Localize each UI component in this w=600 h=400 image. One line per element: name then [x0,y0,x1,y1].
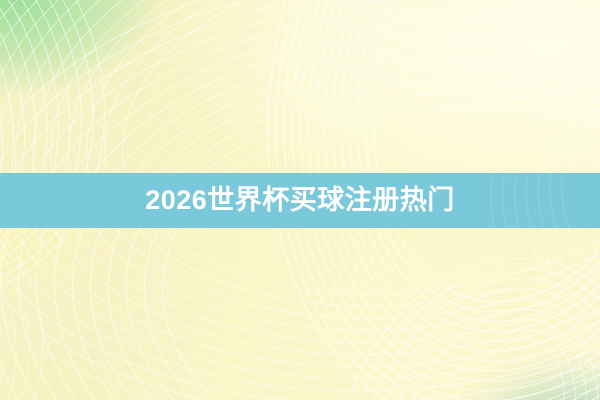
banner-image: 2026世界杯买球注册热门 [0,0,600,400]
page-title: 2026世界杯买球注册热门 [145,187,455,214]
band-arc-texture-icon [430,173,600,228]
background-bottom-right-sage-tint [384,320,600,400]
title-band: 2026世界杯买球注册热门 [0,173,600,228]
